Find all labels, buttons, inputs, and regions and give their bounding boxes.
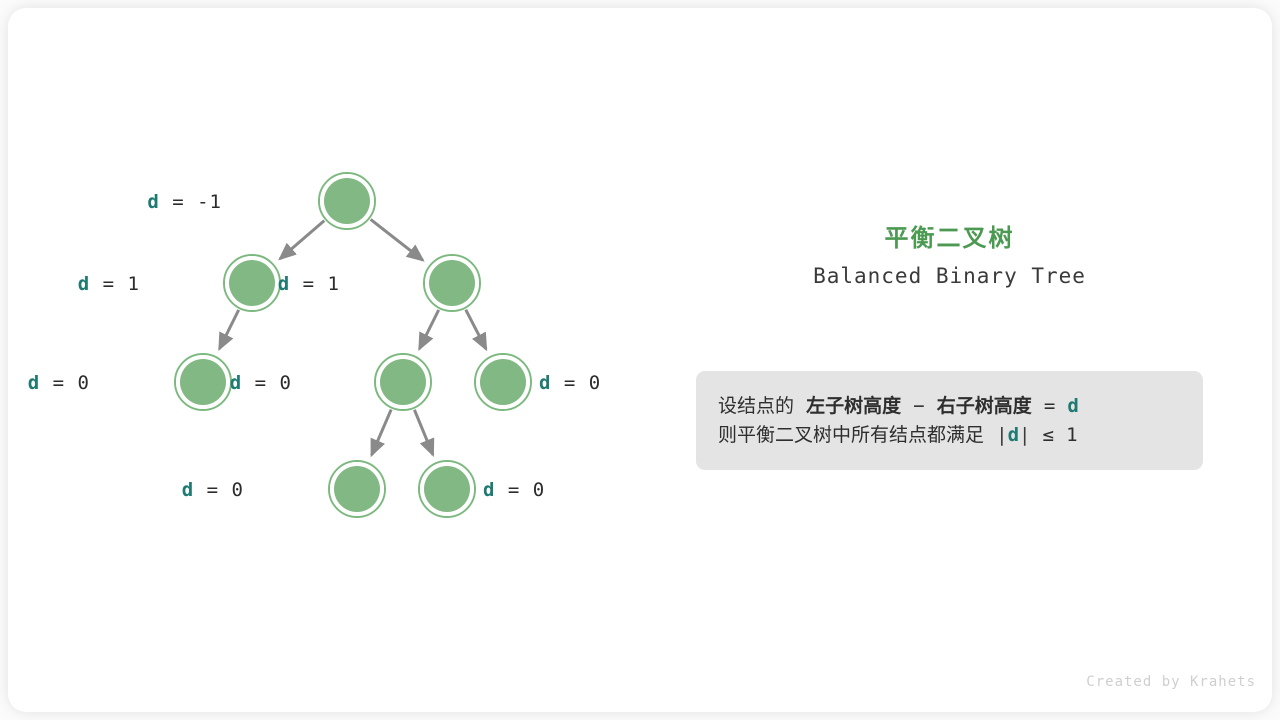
balance-factor-var-2: d <box>1008 424 1019 446</box>
node-balance-factor-label: d = 0 <box>0 372 292 394</box>
node-balance-factor-label: d = 0 <box>0 479 244 501</box>
tree-edge <box>419 310 438 349</box>
balance-factor-var: d <box>147 191 159 213</box>
balance-factor-value: = 0 <box>194 479 244 501</box>
less-equal-operator: ≤ <box>1043 424 1054 446</box>
balance-factor-var: d <box>539 372 551 394</box>
node-body <box>324 178 370 224</box>
node-balance-factor-label: d = 0 <box>483 479 545 501</box>
balance-factor-var: d <box>483 479 495 501</box>
balance-factor-value: = 1 <box>290 273 340 295</box>
balance-factor-value: = -1 <box>160 191 222 213</box>
node-balance-factor-label: d = 0 <box>539 372 601 394</box>
tree-node[interactable] <box>319 173 375 229</box>
tree-nodes <box>175 173 531 517</box>
tree-edge <box>219 310 238 349</box>
equals-operator-1: = <box>1044 395 1055 417</box>
node-body <box>380 359 426 405</box>
credit-text: Created by Krahets <box>1086 674 1256 690</box>
definition-box: 设结点的 左子树高度 − 右子树高度 = d 则平衡二叉树中所有结点都满足 |d… <box>696 371 1203 470</box>
diagram-canvas: d = -1d = 1d = 1d = 0d = 0d = 0d = 0d = … <box>0 0 1280 720</box>
tree-edge <box>280 221 324 259</box>
info-panel: 平衡二叉树 Balanced Binary Tree <box>696 222 1203 288</box>
definition-line-1: 设结点的 左子树高度 − 右子树高度 = d <box>718 397 1079 416</box>
balance-factor-value: = 0 <box>242 372 292 394</box>
tree-node[interactable] <box>329 461 385 517</box>
right-subtree-height-term: 右子树高度 <box>937 395 1032 417</box>
tree-node[interactable] <box>419 461 475 517</box>
tree-edge <box>466 310 486 349</box>
binary-tree-graphic <box>0 0 1280 720</box>
tree-edge <box>372 410 392 455</box>
tree-edge <box>414 410 433 455</box>
node-body <box>429 260 475 306</box>
node-body <box>334 466 380 512</box>
page-subtitle: Balanced Binary Tree <box>696 264 1203 288</box>
balance-factor-var: d <box>278 273 290 295</box>
node-balance-factor-label: d = -1 <box>0 191 222 213</box>
node-balance-factor-label: d = 1 <box>0 273 340 295</box>
tree-node[interactable] <box>424 255 480 311</box>
definition-prefix-2: 则平衡二叉树中所有结点都满足 <box>718 424 984 446</box>
node-body <box>424 466 470 512</box>
balance-factor-value: = 0 <box>495 479 545 501</box>
balance-factor-var: d <box>182 479 194 501</box>
balance-factor-var-1: d <box>1067 395 1078 417</box>
left-subtree-height-term: 左子树高度 <box>806 395 901 417</box>
tree-edge <box>371 219 423 260</box>
tree-node[interactable] <box>375 354 431 410</box>
abs-bar-right: | <box>1019 424 1030 446</box>
balance-factor-value: = 0 <box>551 372 601 394</box>
page-title: 平衡二叉树 <box>696 222 1203 254</box>
balance-limit-value: 1 <box>1066 424 1077 446</box>
abs-bar-left: | <box>996 424 1007 446</box>
tree-node[interactable] <box>475 354 531 410</box>
node-body <box>480 359 526 405</box>
definition-line-2: 则平衡二叉树中所有结点都满足 |d| ≤ 1 <box>718 426 1078 445</box>
balance-factor-var: d <box>230 372 242 394</box>
definition-prefix-1: 设结点的 <box>718 395 794 417</box>
minus-operator: − <box>913 395 924 417</box>
